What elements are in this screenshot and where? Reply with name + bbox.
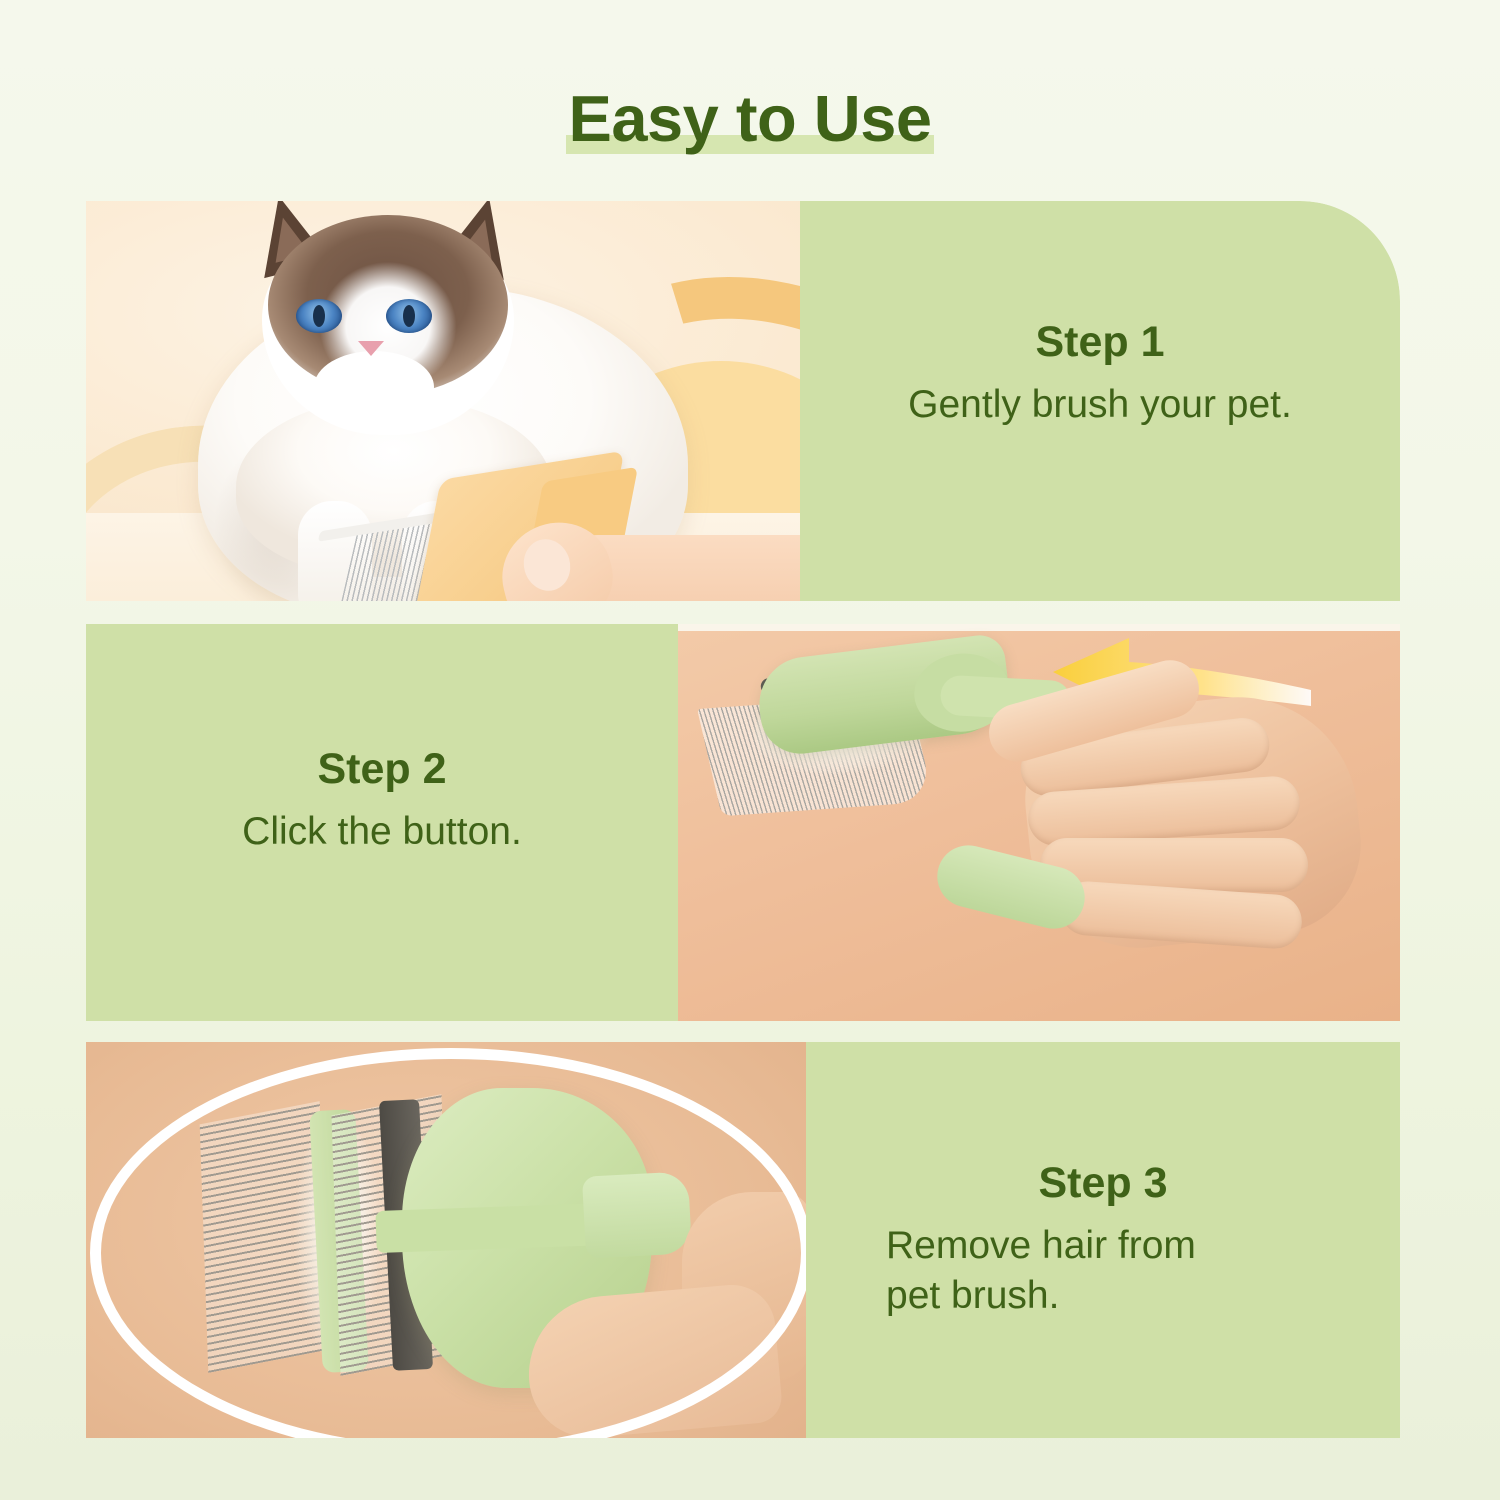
cat-pupil-left: [313, 305, 325, 327]
infographic-page: Easy to Use: [0, 0, 1500, 1500]
step-3-photo: [86, 1042, 806, 1438]
step-3-title: Step 3: [806, 1160, 1400, 1207]
step-row-2: Step 2 Click the button.: [86, 624, 1400, 1021]
step-1-panel: Step 1 Gently brush your pet.: [800, 201, 1400, 601]
oval-highlight-icon: [90, 1048, 806, 1438]
step-1-title: Step 1: [800, 319, 1400, 366]
step-2-panel: Step 2 Click the button.: [86, 624, 678, 1021]
step-2-text-block: Step 2 Click the button.: [86, 746, 678, 857]
step-3-panel: Step 3 Remove hair from pet brush.: [806, 1042, 1400, 1438]
cat-muzzle: [314, 351, 434, 423]
step-3-description-line-2: pet brush.: [806, 1271, 1400, 1321]
step-row-1: Step 1 Gently brush your pet.: [86, 201, 1400, 601]
step-1-photo: [86, 201, 800, 601]
cat-pupil-right: [403, 305, 415, 327]
page-title: Easy to Use: [0, 76, 1500, 166]
step-row-3: Step 3 Remove hair from pet brush.: [86, 1042, 1400, 1438]
hand-holding-brush: [968, 662, 1398, 992]
step-2-description: Click the button.: [86, 807, 678, 857]
step-3-description-line-1: Remove hair from: [806, 1221, 1400, 1271]
step-2-title: Step 2: [86, 746, 678, 793]
step-1-text-block: Step 1 Gently brush your pet.: [800, 319, 1400, 430]
step-3-text-block: Step 3 Remove hair from pet brush.: [806, 1160, 1400, 1321]
hand-holding-brush: [490, 517, 800, 601]
cat-nose: [358, 341, 384, 356]
page-title-text: Easy to Use: [568, 76, 931, 162]
title-inner: Easy to Use: [562, 76, 937, 162]
step-1-description: Gently brush your pet.: [800, 380, 1400, 430]
step-2-photo: [678, 624, 1400, 1021]
